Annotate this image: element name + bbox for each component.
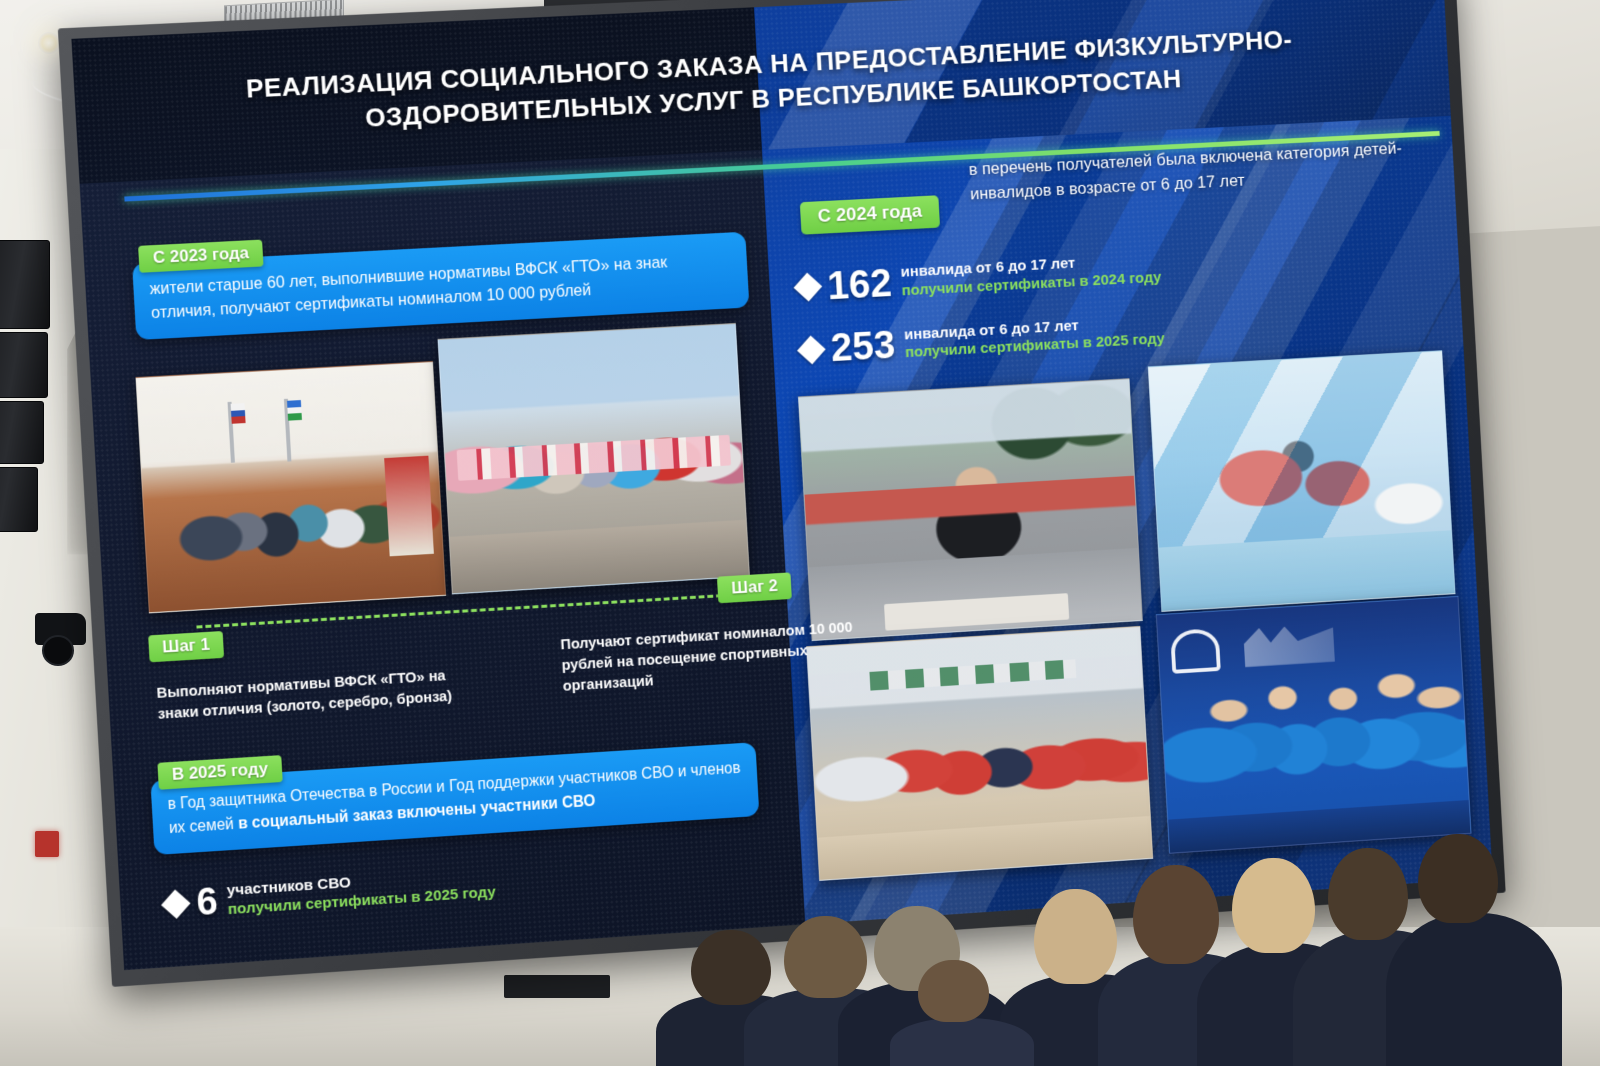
person-head [1418, 834, 1498, 923]
photo-coach-children-gym [1148, 350, 1456, 612]
photo-blue-team [1156, 596, 1471, 854]
person-head [784, 916, 867, 998]
photo-boy-pushup-track [798, 379, 1143, 641]
emergency-exit-indicator [35, 831, 59, 857]
audience-row [0, 895, 1600, 1066]
badge-step-1: Шаг 1 [148, 631, 225, 662]
person-head [1328, 848, 1408, 940]
person-head [918, 960, 988, 1021]
step-1-badge-wrap: Шаг 1 [148, 631, 225, 662]
person-head [1133, 865, 1219, 964]
conference-hall-room: РЕАЛИЗАЦИЯ СОЦИАЛЬНОГО ЗАКАЗА НА ПРЕДОСТ… [0, 0, 1600, 1066]
person-head [1034, 889, 1117, 985]
diamond-bullet-icon [793, 273, 822, 302]
screen-bezel: РЕАЛИЗАЦИЯ СОЦИАЛЬНОГО ЗАКАЗА НА ПРЕДОСТ… [58, 0, 1506, 987]
person-shoulders [890, 1018, 1034, 1066]
person-shoulders [1386, 913, 1562, 1066]
stat-162-number: 162 [826, 263, 892, 306]
led-display-screen: РЕАЛИЗАЦИЯ СОЦИАЛЬНОГО ЗАКАЗА НА ПРЕДОСТ… [58, 0, 1506, 987]
badge-step-2: Шаг 2 [717, 572, 792, 603]
line-array-speaker [0, 240, 50, 538]
diamond-bullet-icon [797, 335, 826, 364]
ceiling-camera [35, 613, 86, 662]
step-2-badge-wrap: Шаг 2 [717, 572, 792, 603]
person-head [1232, 858, 1315, 954]
photo-gym-group [136, 361, 446, 613]
person-head [691, 930, 771, 1005]
photo-seniors-certificates [437, 323, 750, 594]
presentation-slide: РЕАЛИЗАЦИЯ СОЦИАЛЬНОГО ЗАКАЗА НА ПРЕДОСТ… [71, 0, 1492, 970]
stat-253-number: 253 [830, 326, 896, 369]
